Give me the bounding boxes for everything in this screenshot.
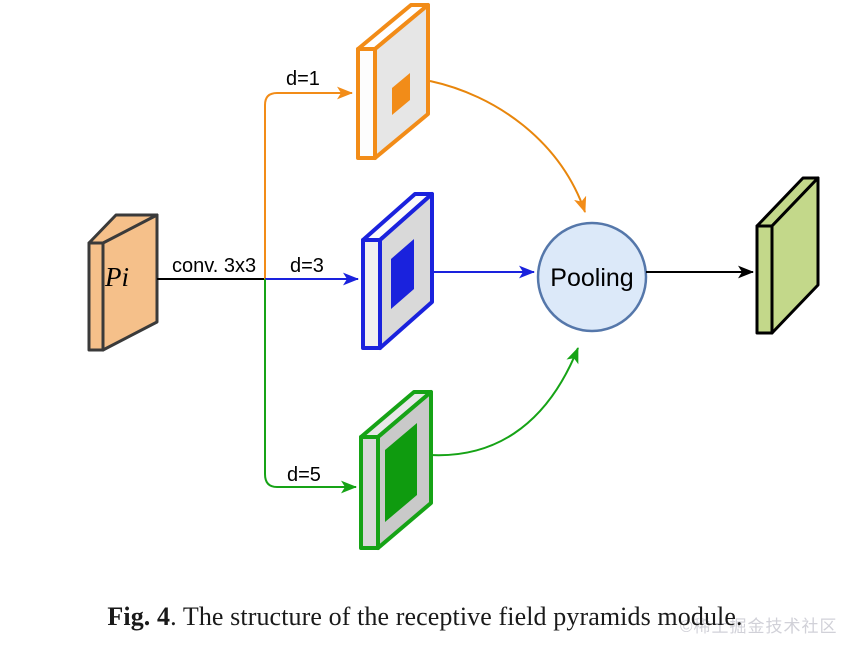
branch-d3-slab-side [363, 240, 380, 348]
branch-d5-line [265, 279, 356, 487]
conv-label: conv. 3x3 [172, 255, 256, 277]
input-slab-side [89, 243, 103, 350]
branch-d1-line [265, 93, 352, 279]
branch-d5-to-pooling [430, 348, 578, 455]
branch-d3-label: d=3 [290, 255, 324, 277]
pooling-node[interactable]: Pooling [538, 223, 646, 331]
branch-d1-slab [358, 5, 428, 158]
input-feature-map: Pi [89, 215, 157, 350]
branch-d1-to-pooling [430, 81, 585, 212]
branch-d1-slab-side [358, 49, 375, 158]
branch-d5-slab [361, 392, 431, 548]
output-feature-map [757, 178, 818, 333]
branch-d5-label: d=5 [287, 464, 321, 486]
figure-caption-text: . The structure of the receptive field p… [170, 602, 743, 631]
branch-d1-label: d=1 [286, 68, 320, 90]
figure-caption: Fig. 4. The structure of the receptive f… [0, 602, 850, 632]
figure-caption-prefix: Fig. 4 [107, 602, 170, 631]
branch-d3-slab [363, 194, 432, 348]
figure-container: Pi conv. 3x3 d=1 d=3 d=5 [0, 0, 850, 664]
branch-d5-slab-side [361, 437, 378, 548]
pooling-label: Pooling [550, 264, 633, 292]
diagram-canvas: Pi conv. 3x3 d=1 d=3 d=5 [0, 0, 850, 664]
input-slab-label: Pi [104, 262, 129, 292]
output-slab-side [757, 226, 772, 333]
